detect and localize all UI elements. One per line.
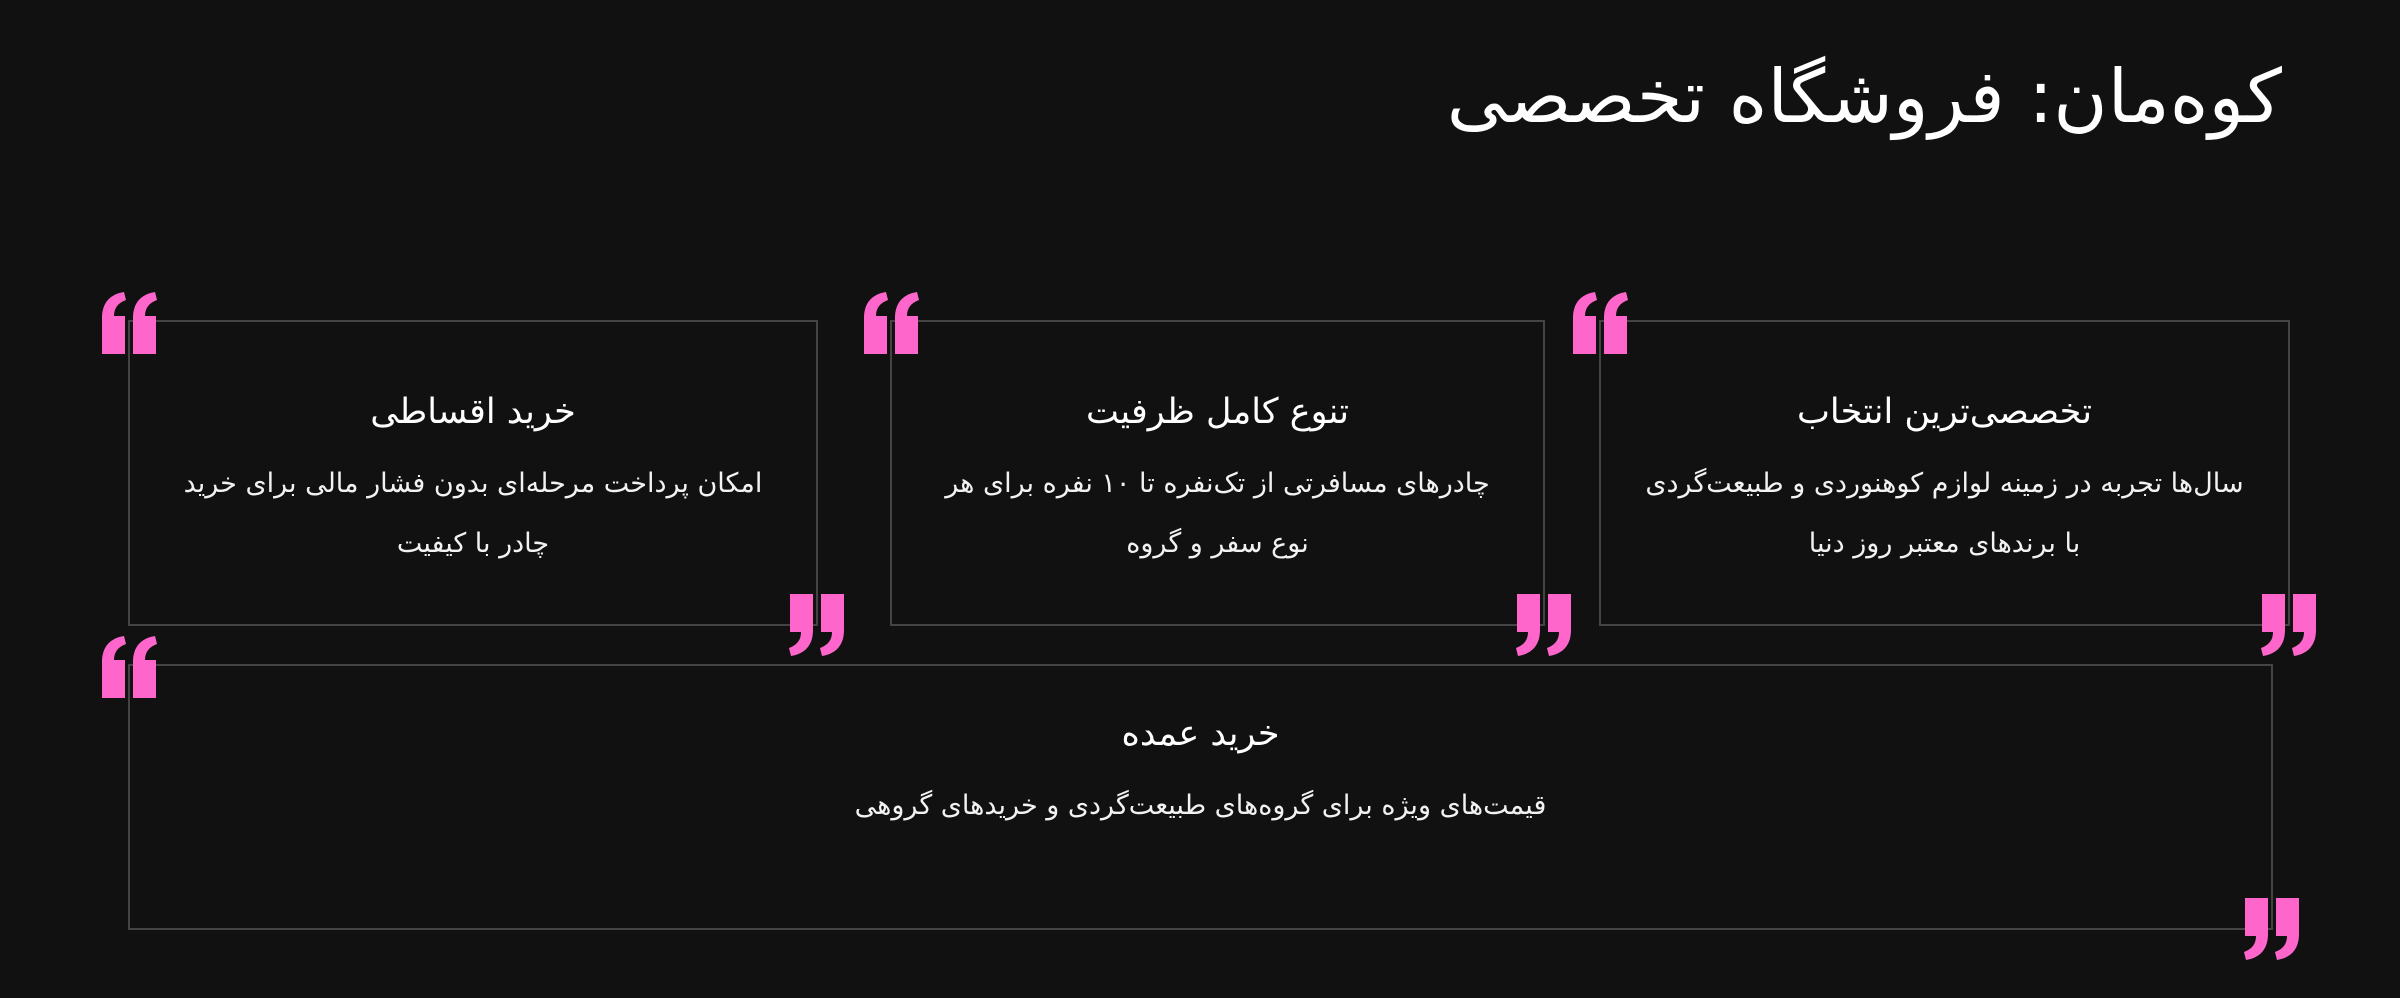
quote-close-icon [788,594,846,656]
feature-card[interactable]: خرید اقساطی امکان پرداخت مرحله‌ای بدون ف… [128,320,818,626]
feature-card[interactable]: خرید عمده قیمت‌های ویژه برای گروه‌های طب… [128,664,2273,930]
feature-card[interactable]: تخصصی‌ترین انتخاب سال‌ها تجربه در زمینه … [1599,320,2290,626]
feature-card-description: سال‌ها تجربه در زمینه لوازم کوهنوردی و ط… [1601,454,2288,574]
feature-card-title: خرید عمده [130,712,2271,758]
feature-card-title: خرید اقساطی [130,390,816,436]
feature-card-content: خرید اقساطی امکان پرداخت مرحله‌ای بدون ف… [130,390,816,574]
feature-card-content: تنوع کامل ظرفیت چادرهای مسافرتی از تک‌نف… [892,390,1543,574]
quote-close-icon [1515,594,1573,656]
feature-card-title: تنوع کامل ظرفیت [892,390,1543,436]
quote-open-icon [100,636,158,698]
feature-card-description: قیمت‌های ویژه برای گروه‌های طبیعت‌گردی و… [130,776,2271,836]
page-root: { "header": { "title": "کوه‌مان: فروشگاه… [0,0,2400,998]
quote-close-icon [2243,898,2301,960]
feature-card-content: تخصصی‌ترین انتخاب سال‌ها تجربه در زمینه … [1601,390,2288,574]
feature-card-content: خرید عمده قیمت‌های ویژه برای گروه‌های طب… [130,712,2271,836]
feature-card-description: چادرهای مسافرتی از تک‌نفره تا ۱۰ نفره بر… [892,454,1543,574]
quote-open-icon [1571,292,1629,354]
feature-card-description: امکان پرداخت مرحله‌ای بدون فشار مالی برا… [130,454,816,574]
feature-card-title: تخصصی‌ترین انتخاب [1601,390,2288,436]
quote-open-icon [100,292,158,354]
feature-card[interactable]: تنوع کامل ظرفیت چادرهای مسافرتی از تک‌نف… [890,320,1545,626]
quote-close-icon [2260,594,2318,656]
quote-open-icon [862,292,920,354]
feature-cards-grid: خرید اقساطی امکان پرداخت مرحله‌ای بدون ف… [0,0,2400,998]
